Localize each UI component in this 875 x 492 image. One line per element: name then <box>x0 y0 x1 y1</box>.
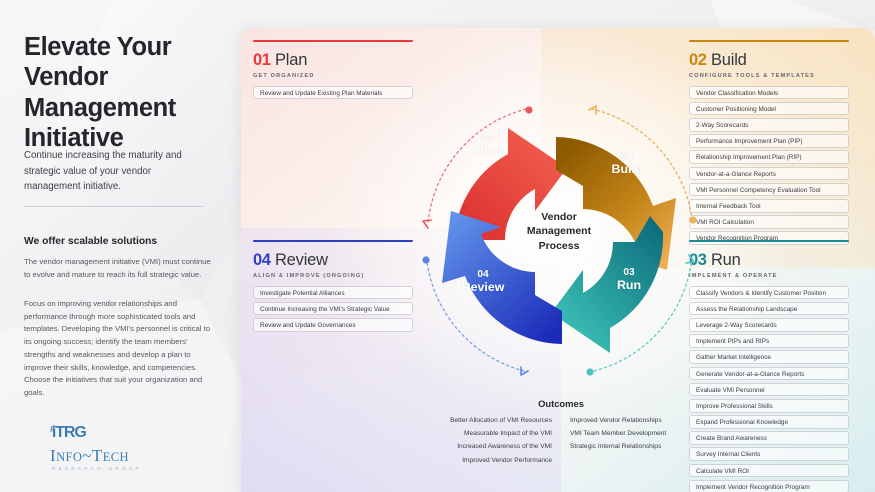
arc-arrow-build <box>589 106 596 114</box>
wheel-label-run: 03 Run <box>600 268 658 292</box>
section-accent-rule-build <box>689 40 849 42</box>
wheel-text-plan: Plan <box>460 145 518 158</box>
section-item-list-plan: Review and Update Existing Plan Material… <box>253 86 413 100</box>
wheel-text-run: Run <box>600 279 658 292</box>
info-tech-ECH: ECH <box>103 450 129 464</box>
arc-dot-run <box>586 368 593 375</box>
section-accent-rule-plan <box>253 40 413 42</box>
wheel-center-line-3: Process <box>496 239 622 253</box>
outcome-item: Improved Vendor Relationships <box>570 417 722 426</box>
wheel-label-build: 02 Build <box>598 152 656 176</box>
outcomes-column-left: Better Allocation of VMI Resources Measu… <box>400 417 552 470</box>
section-plan: 01 Plan GET ORGANIZED Review and Update … <box>253 40 413 102</box>
section-number-build: 02 <box>689 51 707 69</box>
outcome-item: Strategic Internal Relationships <box>570 443 722 452</box>
section-title-build: 02 Build <box>689 51 849 70</box>
section-heading-scalable-solutions: We offer scalable solutions <box>24 236 157 247</box>
wheel-label-plan: 01 Plan <box>460 134 518 158</box>
research-group-text: RESEARCH GROUP <box>52 466 142 471</box>
section-title-plan: 01 Plan <box>253 51 413 70</box>
arc-dot-review <box>422 256 429 263</box>
list-item[interactable]: Review and Update Governances <box>253 318 413 332</box>
page-title: Elevate Your Vendor Management Initiativ… <box>24 32 229 153</box>
list-item[interactable]: Review and Update Existing Plan Material… <box>253 86 413 100</box>
section-number-plan: 01 <box>253 51 271 69</box>
itrg-wordmark: iTRG <box>52 424 86 441</box>
outcome-item: Increased Awareness of the VMI <box>400 443 552 452</box>
outcome-item: VMI Team Member Development <box>570 430 722 439</box>
arc-dot-plan <box>525 106 532 113</box>
page-subtitle: Continue increasing the maturity and str… <box>24 148 204 195</box>
info-tech-NFO: NFO <box>56 450 82 464</box>
body-paragraph-2: Focus on improving vendor relationships … <box>24 298 218 374</box>
section-item-list-review: Investigate Potential Alliances Continue… <box>253 286 413 332</box>
section-subtitle-review: ALIGN & IMPROVE (ONGOING) <box>253 273 413 279</box>
section-label-run: Run <box>711 251 741 269</box>
wheel-center-line-1: Vendor <box>496 210 622 224</box>
arc-arrow-plan <box>423 220 431 228</box>
outcome-item: Improved Vendor Performance <box>400 457 552 466</box>
section-subtitle-build: CONFIGURE TOOLS & TEMPLATES <box>689 73 849 79</box>
wheel-text-review: Review <box>450 281 516 294</box>
list-item[interactable]: Investigate Potential Alliances <box>253 286 413 300</box>
outcome-item: Better Allocation of VMI Resources <box>400 417 552 426</box>
wheel-label-review: 04 Review <box>450 270 516 294</box>
arc-dot-build <box>689 216 696 223</box>
outcomes-heading: Outcomes <box>391 398 731 409</box>
section-subtitle-plan: GET ORGANIZED <box>253 73 413 79</box>
brand-logo-block: #iTRG INFO~TECH RESEARCH GROUP <box>50 424 142 471</box>
outcomes-column-right: Improved Vendor Relationships VMI Team M… <box>570 417 722 470</box>
section-number-review: 04 <box>253 251 271 269</box>
section-label-build: Build <box>711 51 747 69</box>
body-paragraph-3: Choose the initiatives that suit your or… <box>24 374 218 399</box>
arc-arrow-run <box>686 255 694 263</box>
list-item[interactable]: Continue Increasing the VMI's Strategic … <box>253 302 413 316</box>
outcomes-block: Outcomes Better Allocation of VMI Resour… <box>391 398 731 470</box>
section-label-review: Review <box>275 251 328 269</box>
section-accent-rule-review <box>253 240 413 242</box>
wheel-center-line-2: Management <box>496 224 622 238</box>
section-title-review: 04 Review <box>253 251 413 270</box>
itrg-logo: #iTRG <box>50 424 142 442</box>
divider <box>24 206 203 207</box>
section-review: 04 Review ALIGN & IMPROVE (ONGOING) Inve… <box>253 240 413 334</box>
wheel-text-build: Build <box>598 163 656 176</box>
outcome-item: Measurable Impact of the VMI <box>400 430 552 439</box>
left-intro-column: Elevate Your Vendor Management Initiativ… <box>24 0 240 492</box>
wheel-center-label: Vendor Management Process <box>496 210 622 253</box>
info-tech-tilde: ~ <box>82 446 92 465</box>
list-item[interactable]: Implement Vendor Recognition Program <box>689 480 849 492</box>
info-tech-logo: INFO~TECH <box>50 447 142 464</box>
info-tech-T: T <box>92 446 103 465</box>
vendor-management-process-wheel: 01 Plan 02 Build 03 Run 04 Review Vendor… <box>404 90 714 390</box>
process-card: 01 Plan GET ORGANIZED Review and Update … <box>241 28 875 492</box>
section-label-plan: Plan <box>275 51 307 69</box>
body-paragraph-1: The vendor management initiative (VMI) m… <box>24 256 218 281</box>
